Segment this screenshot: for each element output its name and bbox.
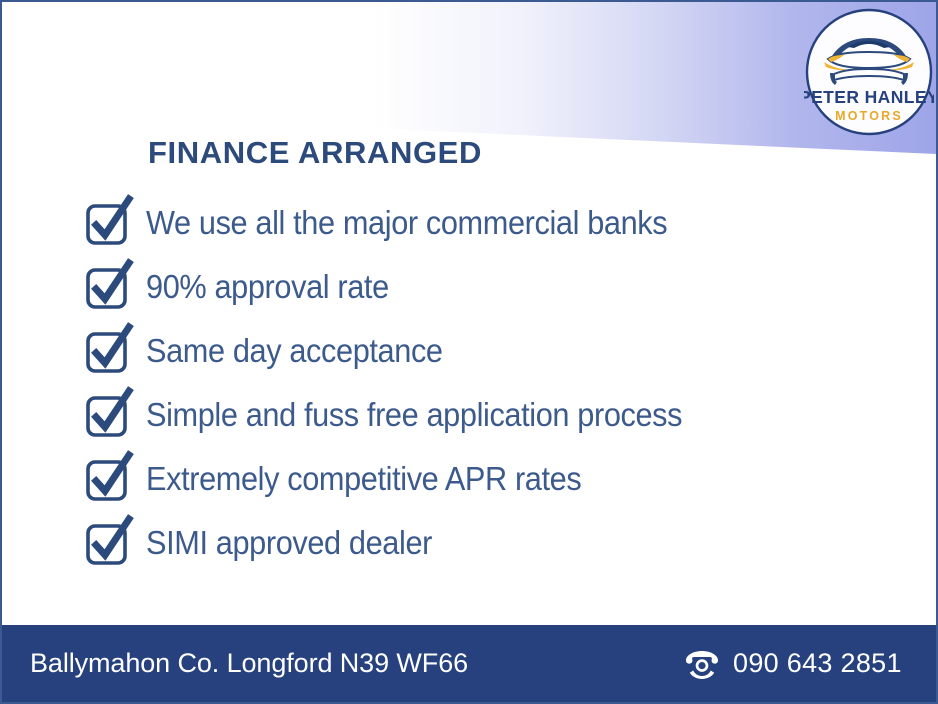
telephone-icon <box>684 649 720 679</box>
feature-list: We use all the major commercial banks 90… <box>84 190 884 574</box>
list-item: Same day acceptance <box>84 318 884 382</box>
contact-footer-bar: Ballymahon Co. Longford N39 WF66 090 643… <box>2 625 936 702</box>
phone-number: 090 643 2851 <box>733 648 902 679</box>
logo-primary-text: PETER HANLEY <box>804 87 934 107</box>
logo-secondary-text: MOTORS <box>835 109 903 123</box>
list-item-label: SIMI approved dealer <box>146 526 432 559</box>
phone-group[interactable]: 090 643 2851 <box>684 648 902 679</box>
checkbox-checked-icon <box>84 261 134 311</box>
page-title: FINANCE ARRANGED <box>148 135 482 171</box>
finance-arranged-poster: PETER HANLEY MOTORS FINANCE ARRANGED We … <box>0 0 938 704</box>
list-item: Extremely competitive APR rates <box>84 446 884 510</box>
peter-hanley-motors-logo[interactable]: PETER HANLEY MOTORS <box>804 7 934 137</box>
list-item-label: Same day acceptance <box>146 334 443 367</box>
list-item: 90% approval rate <box>84 254 884 318</box>
checkbox-checked-icon <box>84 325 134 375</box>
list-item: We use all the major commercial banks <box>84 190 884 254</box>
list-item-label: Simple and fuss free application process <box>146 398 682 431</box>
list-item-label: Extremely competitive APR rates <box>146 462 581 495</box>
checkbox-checked-icon <box>84 197 134 247</box>
list-item-label: We use all the major commercial banks <box>146 206 667 239</box>
list-item-label: 90% approval rate <box>146 270 389 303</box>
checkbox-checked-icon <box>84 389 134 439</box>
checkbox-checked-icon <box>84 517 134 567</box>
checkbox-checked-icon <box>84 453 134 503</box>
list-item: SIMI approved dealer <box>84 510 884 574</box>
header-gradient-wedge <box>2 2 936 154</box>
address-text: Ballymahon Co. Longford N39 WF66 <box>30 648 468 679</box>
list-item: Simple and fuss free application process <box>84 382 884 446</box>
